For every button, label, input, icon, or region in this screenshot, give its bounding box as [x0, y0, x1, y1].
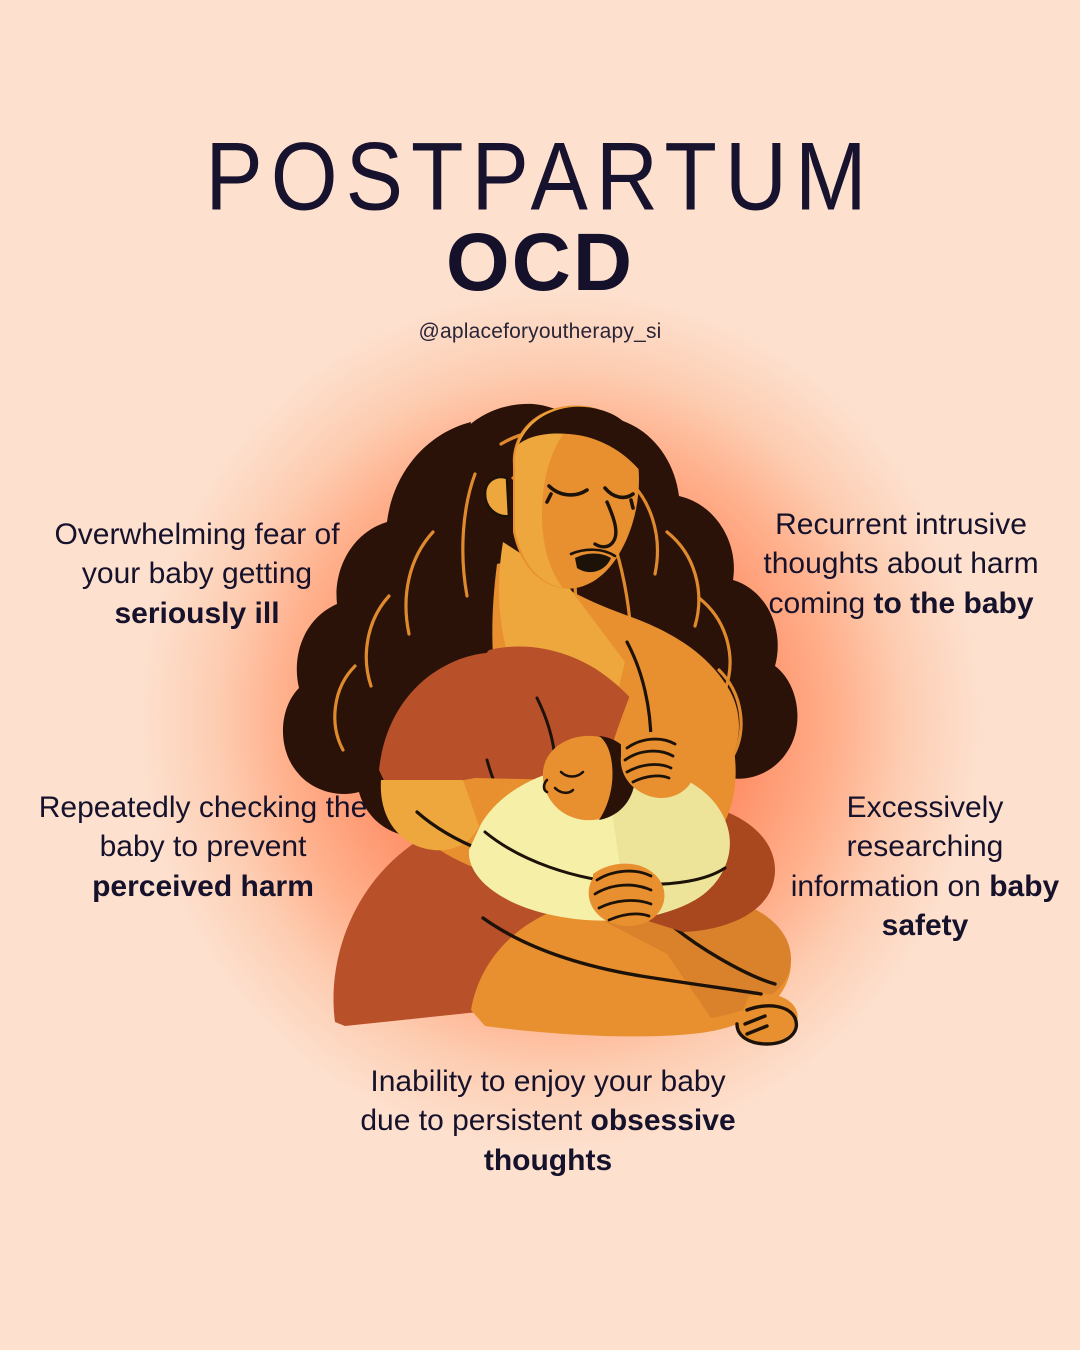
callout-left-top-bold: seriously ill	[114, 597, 279, 630]
callout-left-bottom-normal: Repeatedly checking the baby to prevent	[39, 791, 368, 863]
header: POSTPARTUM OCD @aplaceforyoutherapy_si	[0, 0, 1080, 344]
callout-left-top-normal: Overwhelming fear of your baby getting	[54, 518, 339, 590]
callout-left-bottom-bold: perceived harm	[92, 870, 314, 903]
arm-highlight	[381, 780, 479, 850]
social-handle: @aplaceforyoutherapy_si	[0, 304, 1080, 344]
callout-right-top-bold: to the baby	[874, 587, 1034, 620]
callout-left-top: Overwhelming fear of your baby getting s…	[22, 515, 372, 633]
postpartum-ocd-infographic: POSTPARTUM OCD @aplaceforyoutherapy_si	[0, 0, 1080, 1350]
callout-right-top: Recurrent intrusive thoughts about harm …	[742, 505, 1060, 623]
mother-holding-baby-illustration	[275, 382, 815, 1062]
callout-bottom: Inability to enjoy your baby due to pers…	[358, 1062, 738, 1180]
page-title-line1: POSTPARTUM	[0, 0, 1080, 224]
callout-left-bottom: Repeatedly checking the baby to prevent …	[28, 788, 378, 906]
callout-right-bottom-normal: Excessively researching information on	[791, 791, 1004, 903]
callout-right-bottom: Excessively researching information on b…	[790, 788, 1060, 945]
